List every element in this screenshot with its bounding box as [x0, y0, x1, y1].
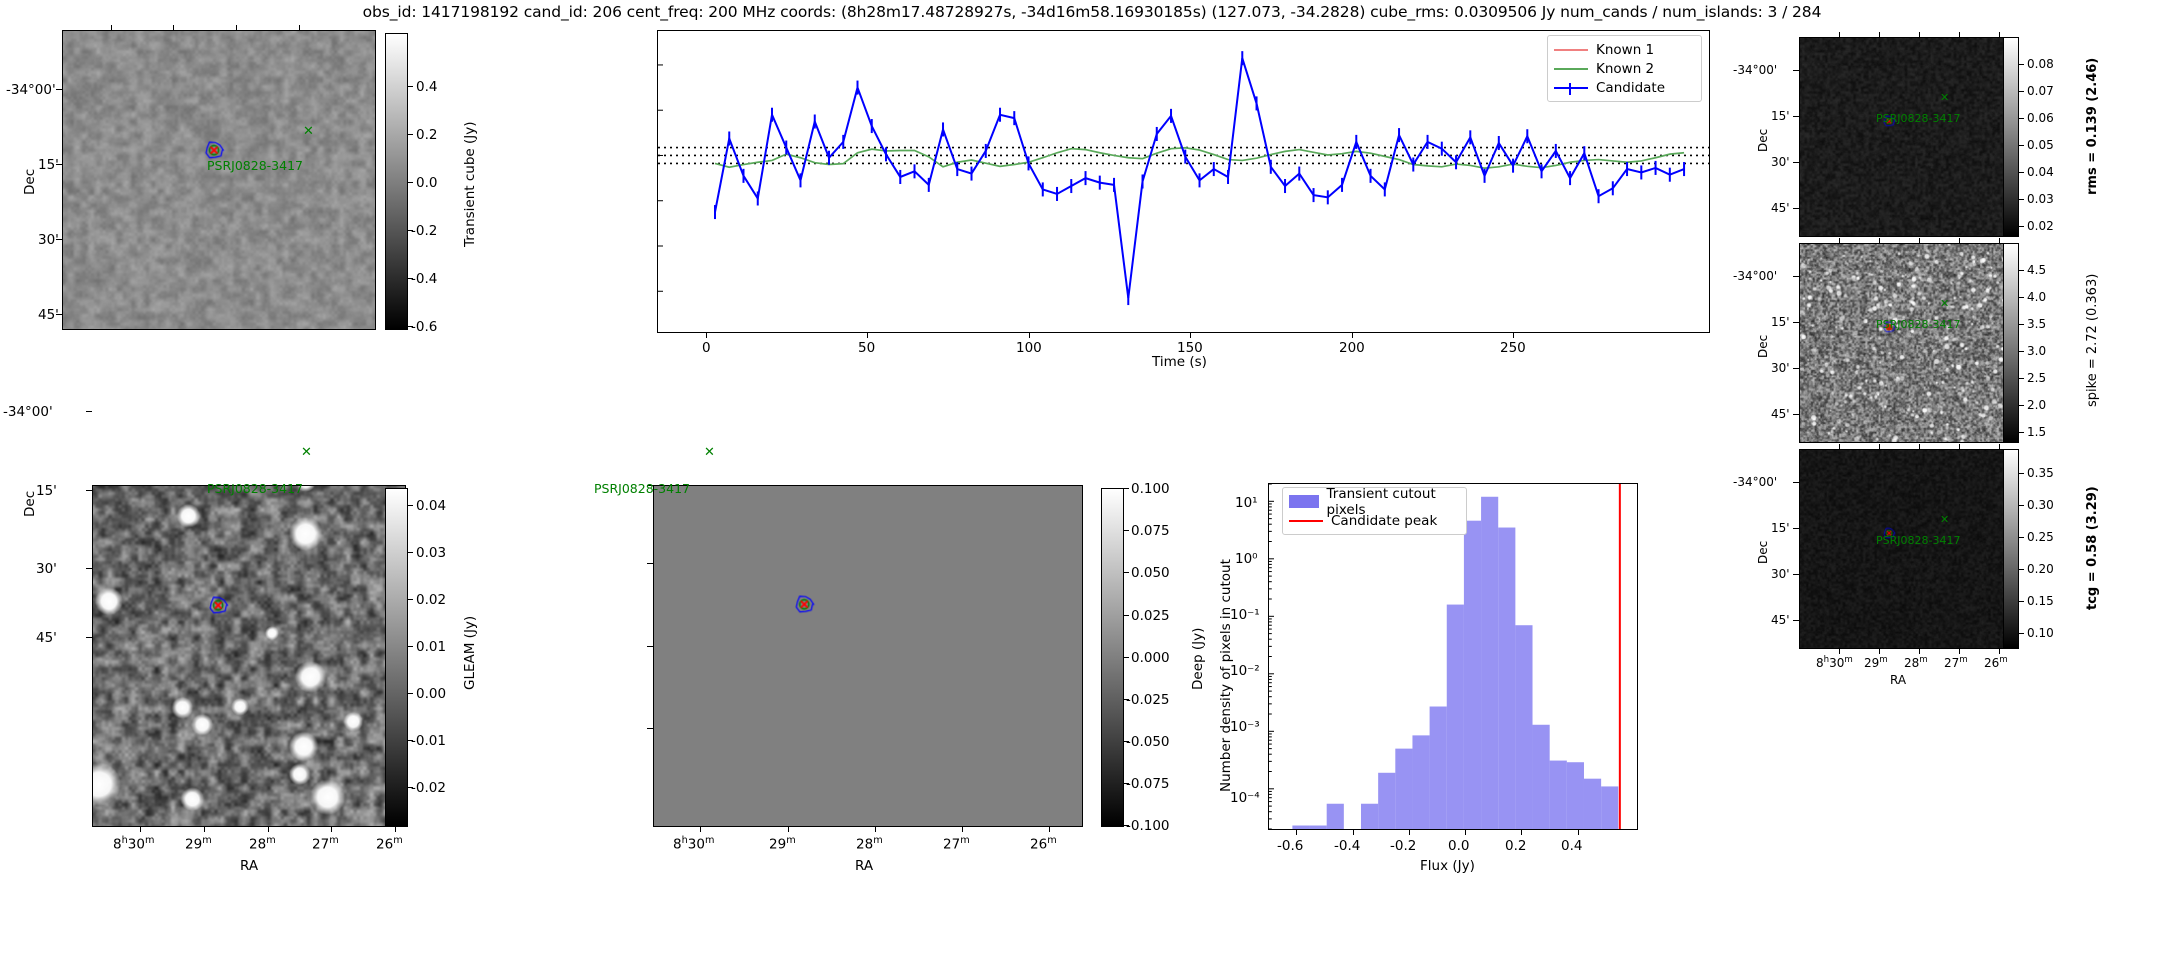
gleam-known-marker: ✕: [301, 446, 312, 459]
tcg-cbar-tick-5: 0.10: [2027, 626, 2054, 640]
legend-line-known2: [1554, 68, 1588, 70]
tcg-ytick-2: 30': [1771, 567, 1790, 581]
tcg-ytickmark-0: [1793, 482, 1799, 483]
rms-known-marker: ✕: [1940, 92, 1949, 103]
spike-source-label: PSRJ0828-3417: [1876, 318, 1960, 331]
tcg-ytick-3: 45': [1771, 613, 1790, 627]
deep-cbar-tickmark-7: [1124, 783, 1129, 784]
gleam-ytickmark-2: [86, 568, 92, 569]
gleam-colorbar-label: GLEAM (Jy): [462, 616, 478, 690]
gleam-ytick-0: -34°00': [3, 404, 53, 420]
hist-xtick-3: 0.0: [1448, 838, 1469, 854]
tcg-ytickmark-1: [1793, 528, 1799, 529]
flux-histogram-svg: [1269, 484, 1637, 829]
spike-ytick-2: 30': [1771, 361, 1790, 375]
flux-histogram-plot[interactable]: [1268, 483, 1638, 830]
legend-line-candidate: [1554, 87, 1588, 89]
deep-cbar-tickmark-2: [1124, 572, 1129, 573]
cube-cbar-tickmark-5: [408, 326, 413, 327]
cube-ytickmark-1: [56, 164, 62, 165]
spike-canvas: [1800, 244, 2005, 442]
deep-ytickmark-3: [647, 728, 653, 729]
rms-cbar-tick-6: 0.02: [2027, 219, 2054, 233]
rms-cbar-tick-3: 0.05: [2027, 138, 2054, 152]
hist-xtick-1: -0.4: [1334, 838, 1360, 854]
gleam-cbar-tick-0: 0.04: [416, 498, 446, 514]
rms-cbar-tick-2: 0.06: [2027, 111, 2054, 125]
deep-cbar-tick-7: -0.075: [1126, 776, 1170, 792]
deep-colorbar-label: Deep (Jy): [1190, 628, 1206, 690]
page-title: obs_id: 1417198192 cand_id: 206 cent_fre…: [0, 3, 2184, 21]
gleam-cbar-tickmark-3: [408, 646, 413, 647]
transient-cube-colorbar: [385, 33, 408, 330]
rms-cbar-tick-4: 0.04: [2027, 165, 2054, 179]
hist-ytick-4: 10⁻³: [1230, 719, 1260, 735]
tcg-xtick-4: 26m: [1984, 655, 2008, 670]
hist-xtick-0: -0.6: [1277, 838, 1303, 854]
gleam-cbar-tick-2: 0.02: [416, 592, 446, 608]
legend-row-candidate: Candidate: [1554, 78, 1694, 97]
spike-cbar-tickmark-3: [2019, 351, 2024, 352]
gleam-cbar-tickmark-1: [408, 552, 413, 553]
spike-xtickmark-0: [1839, 238, 1840, 243]
tcg-cbar-tick-2: 0.25: [2027, 530, 2054, 544]
rms-cbar-tickmark-2: [2019, 118, 2024, 119]
tcg-ytick-0: -34°00': [1733, 475, 1777, 489]
lc-xtickmark-2: [1029, 333, 1030, 338]
deep-xtickmark-0: [700, 827, 701, 832]
deep-xtick-1: 29m: [769, 835, 796, 853]
lightcurve-legend: Known 1 Known 2 Candidate: [1547, 35, 1702, 102]
legend-label-candidate: Candidate: [1596, 80, 1665, 96]
deep-xtickmark-4: [1049, 827, 1050, 832]
hist-xtickmark-3: [1465, 830, 1466, 835]
transient-cube-canvas: [63, 31, 375, 329]
rms-xtickmark-2: [1919, 32, 1920, 37]
legend-label-known2: Known 2: [1596, 61, 1654, 77]
rms-colorbar-label: rms = 0.139 (2.46): [2085, 58, 2100, 195]
deep-xtickmark-2: [875, 827, 876, 832]
spike-image[interactable]: [1799, 243, 2006, 443]
cube-cbar-tick-1: 0.2: [416, 127, 437, 143]
legend-swatch-cutout-pixels: [1289, 495, 1319, 508]
gleam-ytick-3: 45': [36, 630, 57, 646]
tcg-cbar-tickmark-0: [2019, 473, 2024, 474]
rms-cbar-tick-5: 0.03: [2027, 192, 2054, 206]
cube-cbar-tick-0: 0.4: [416, 79, 437, 95]
hist-xtickmark-5: [1578, 830, 1579, 835]
gleam-cbar-tickmark-0: [408, 505, 413, 506]
tcg-xtickmark-3: [1959, 444, 1960, 449]
deep-xtickmark-1: [788, 827, 789, 832]
tcg-xtickmark-b1: [1879, 649, 1880, 654]
spike-cbar-tickmark-4: [2019, 378, 2024, 379]
gleam-xtickmark-2: [268, 827, 269, 832]
cube-xtickmark-0: [111, 25, 112, 30]
deep-cbar-tick-4: 0.000: [1131, 650, 1170, 666]
tcg-canvas: [1800, 450, 2005, 648]
spike-cbar-tickmark-6: [2019, 432, 2024, 433]
spike-ytick-1: 15': [1771, 315, 1790, 329]
spike-cbar-tick-0: 4.5: [2027, 263, 2046, 277]
rms-image[interactable]: [1799, 37, 2006, 237]
tcg-cbar-tick-4: 0.15: [2027, 594, 2054, 608]
tcg-cbar-tick-0: 0.35: [2027, 466, 2054, 480]
tcg-cbar-tickmark-2: [2019, 537, 2024, 538]
hist-ytick-0: 10¹: [1235, 495, 1258, 511]
tcg-ytickmark-3: [1793, 620, 1799, 621]
rms-cbar-tickmark-1: [2019, 91, 2024, 92]
gleam-cbar-tick-1: 0.03: [416, 545, 446, 561]
flux-histogram-xlabel: Flux (Jy): [1420, 858, 1475, 874]
rms-cbar-tickmark-0: [2019, 64, 2024, 65]
gleam-colorbar: [385, 488, 408, 827]
legend-label-candidate-peak: Candidate peak: [1331, 513, 1437, 529]
gleam-cbar-tickmark-2: [408, 599, 413, 600]
deep-cbar-tickmark-1: [1124, 530, 1129, 531]
tcg-source-label: PSRJ0828-3417: [1876, 534, 1960, 547]
cube-ytick-1: 15': [38, 157, 59, 173]
lc-xtick-4: 200: [1339, 340, 1365, 356]
deep-cbar-tick-2: 0.050: [1131, 565, 1170, 581]
tcg-xtickmark-0: [1839, 444, 1840, 449]
legend-label-known1: Known 1: [1596, 42, 1654, 58]
gleam-xtickmark-0: [140, 827, 141, 832]
gleam-xtickmark-1: [204, 827, 205, 832]
tcg-xtickmark-b2: [1919, 649, 1920, 654]
gleam-ytickmark-3: [86, 637, 92, 638]
flux-histogram-legend: Transient cutout pixels Candidate peak: [1282, 487, 1467, 535]
gleam-xtickmark-4: [395, 827, 396, 832]
hist-xtickmark-1: [1353, 830, 1354, 835]
deep-cbar-tick-5: -0.025: [1126, 692, 1170, 708]
spike-xtickmark-4: [1999, 238, 2000, 243]
rms-cbar-tickmark-5: [2019, 199, 2024, 200]
cube-ytick-2: 30': [38, 232, 59, 248]
deep-cbar-tick-1: 0.075: [1131, 523, 1170, 539]
hist-xtickmark-0: [1296, 830, 1297, 835]
legend-row-cutout-pixels: Transient cutout pixels: [1289, 492, 1459, 511]
spike-cbar-tickmark-0: [2019, 270, 2024, 271]
cube-cbar-tickmark-1: [408, 134, 413, 135]
deep-cbar-tickmark-0: [1124, 488, 1129, 489]
tcg-colorbar: [2003, 449, 2019, 649]
cube-cbar-tickmark-3: [408, 230, 413, 231]
gleam-xtick-1: 29m: [185, 835, 212, 853]
legend-line-candidate-peak: [1289, 520, 1323, 522]
cube-ytickmark-2: [56, 239, 62, 240]
cube-ytick-3: 45': [38, 307, 59, 323]
lightcurve-xlabel: Time (s): [1152, 354, 1207, 370]
tcg-known-marker: ✕: [1940, 514, 1949, 525]
gleam-ytick-1: 15': [36, 483, 57, 499]
rms-ytickmark-2: [1793, 162, 1799, 163]
spike-cbar-tick-6: 1.5: [2027, 425, 2046, 439]
rms-cbar-tick-1: 0.07: [2027, 84, 2054, 98]
spike-ytick-0: -34°00': [1733, 269, 1777, 283]
deep-colorbar: [1101, 488, 1124, 827]
gleam-xtick-3: 27m: [312, 835, 339, 853]
legend-line-known1: [1554, 49, 1588, 51]
rms-colorbar: [2003, 37, 2019, 237]
rms-ytick-3: 45': [1771, 201, 1790, 215]
cube-source-label: PSRJ0828-3417: [207, 158, 303, 173]
spike-cbar-tick-1: 4.0: [2027, 290, 2046, 304]
spike-xtickmark-2: [1919, 238, 1920, 243]
cube-xtickmark-3: [299, 25, 300, 30]
rms-cbar-tickmark-6: [2019, 226, 2024, 227]
deep-ytickmark-1: [647, 563, 653, 564]
lc-xtickmark-3: [1190, 333, 1191, 338]
spike-ylabel: Dec: [1756, 335, 1770, 358]
rms-ytick-2: 30': [1771, 155, 1790, 169]
spike-ytickmark-3: [1793, 414, 1799, 415]
tcg-xtick-0: 8h30m: [1816, 655, 1853, 670]
rms-ytickmark-0: [1793, 70, 1799, 71]
deep-xtick-0: 8h30m: [673, 835, 714, 853]
lc-xtickmark-1: [867, 333, 868, 338]
cube-ylabel: Dec: [22, 169, 38, 195]
hist-ytick-2: 10⁻¹: [1230, 607, 1260, 623]
tcg-cbar-tick-1: 0.30: [2027, 498, 2054, 512]
cube-xtickmark-2: [236, 25, 237, 30]
lc-xtick-5: 250: [1500, 340, 1526, 356]
gleam-xtick-2: 28m: [249, 835, 276, 853]
spike-cbar-tick-2: 3.5: [2027, 317, 2046, 331]
hist-xtickmark-4: [1521, 830, 1522, 835]
lightcurve-series-candidate: [715, 51, 1684, 305]
tcg-ytickmark-2: [1793, 574, 1799, 575]
rms-xtickmark-4: [1999, 32, 2000, 37]
flux-histogram-bars: [1292, 497, 1618, 829]
spike-cbar-tick-3: 3.0: [2027, 344, 2046, 358]
tcg-xlabel: RA: [1890, 673, 1906, 687]
rms-ylabel: Dec: [1756, 129, 1770, 152]
tcg-xtickmark-4: [1999, 444, 2000, 449]
deep-xtick-2: 28m: [856, 835, 883, 853]
rms-cbar-tickmark-3: [2019, 145, 2024, 146]
gleam-ytickmark-1: [86, 490, 92, 491]
gleam-cbar-tickmark-4: [408, 693, 413, 694]
deep-cbar-tickmark-4: [1124, 657, 1129, 658]
deep-xtickmark-3: [962, 827, 963, 832]
rms-xtickmark-1: [1879, 32, 1880, 37]
deep-source-label: PSRJ0828-3417: [594, 481, 690, 496]
spike-cbar-tickmark-2: [2019, 324, 2024, 325]
gleam-cbar-tick-5: -0.01: [411, 733, 446, 749]
spike-ytickmark-0: [1793, 276, 1799, 277]
lc-xtickmark-0: [706, 333, 707, 338]
cube-ytickmark-0: [56, 89, 62, 90]
gleam-canvas: [93, 486, 405, 826]
gleam-cbar-tickmark-6: [408, 787, 413, 788]
lc-xtickmark-4: [1352, 333, 1353, 338]
cube-known-marker: ✕: [303, 125, 314, 138]
rms-xtickmark-3: [1959, 32, 1960, 37]
hist-ytick-5: 10⁻⁴: [1230, 790, 1260, 806]
tcg-ytick-1: 15': [1771, 521, 1790, 535]
gleam-xtick-0: 8h30m: [113, 835, 154, 853]
legend-row-known1: Known 1: [1554, 40, 1694, 59]
rms-ytick-0: -34°00': [1733, 63, 1777, 77]
deep-cbar-tickmark-6: [1124, 741, 1129, 742]
spike-cbar-tick-5: 2.0: [2027, 398, 2046, 412]
tcg-xtick-1: 29m: [1864, 655, 1888, 670]
gleam-ytick-2: 30': [36, 561, 57, 577]
gleam-cbar-tick-6: -0.02: [411, 780, 446, 796]
deep-cbar-tickmark-8: [1124, 825, 1129, 826]
tcg-cbar-tickmark-4: [2019, 601, 2024, 602]
deep-known-marker: ✕: [704, 446, 715, 459]
rms-ytickmark-3: [1793, 208, 1799, 209]
deep-xlabel: RA: [855, 858, 873, 874]
legend-row-known2: Known 2: [1554, 59, 1694, 78]
rms-ytick-1: 15': [1771, 109, 1790, 123]
deep-xtick-4: 26m: [1030, 835, 1057, 853]
deep-ytickmark-2: [647, 646, 653, 647]
rms-canvas: [1800, 38, 2005, 236]
rms-xtickmark-0: [1839, 32, 1840, 37]
gleam-xtickmark-3: [331, 827, 332, 832]
cube-ytick-0: -34°00': [6, 82, 56, 98]
deep-xtick-3: 27m: [943, 835, 970, 853]
spike-colorbar: [2003, 243, 2019, 443]
tcg-image[interactable]: [1799, 449, 2006, 649]
flux-histogram-ylabel: Number density of pixels in cutout: [1218, 559, 1234, 792]
tcg-colorbar-label: tcg = 0.58 (3.29): [2085, 486, 2100, 610]
lc-xtick-1: 50: [858, 340, 875, 356]
hist-ytick-3: 10⁻²: [1230, 663, 1260, 679]
hist-xtick-2: -0.2: [1390, 838, 1416, 854]
deep-canvas: [654, 486, 1082, 826]
gleam-source-label: PSRJ0828-3417: [207, 481, 303, 496]
deep-cbar-tickmark-5: [1124, 699, 1129, 700]
rms-cbar-tick-0: 0.08: [2027, 57, 2054, 71]
legend-row-candidate-peak: Candidate peak: [1289, 511, 1459, 530]
gleam-xlabel: RA: [240, 858, 258, 874]
cube-cbar-tick-5: -0.6: [411, 319, 437, 335]
spike-xtickmark-1: [1879, 238, 1880, 243]
tcg-xtick-2: 28m: [1904, 655, 1928, 670]
gleam-image[interactable]: [92, 485, 406, 827]
deep-cbar-tick-3: 0.025: [1131, 608, 1170, 624]
deep-cbar-tick-6: -0.050: [1126, 734, 1170, 750]
transient-cube-colorbar-label: Transient cube (Jy): [462, 121, 478, 247]
gleam-xtick-4: 26m: [376, 835, 403, 853]
tcg-xtickmark-2: [1919, 444, 1920, 449]
tcg-cbar-tickmark-3: [2019, 569, 2024, 570]
spike-xtickmark-3: [1959, 238, 1960, 243]
spike-cbar-tickmark-5: [2019, 405, 2024, 406]
gleam-ytickmark-0: [86, 411, 92, 412]
lc-xtick-0: 0: [702, 340, 711, 356]
spike-cbar-tickmark-1: [2019, 297, 2024, 298]
deep-image[interactable]: [653, 485, 1083, 827]
tcg-ylabel: Dec: [1756, 541, 1770, 564]
gleam-ylabel: Dec: [22, 491, 38, 517]
gleam-cbar-tickmark-5: [408, 740, 413, 741]
rms-source-label: PSRJ0828-3417: [1876, 112, 1960, 125]
cube-cbar-tick-4: -0.4: [411, 271, 437, 287]
spike-ytickmark-2: [1793, 368, 1799, 369]
cube-cbar-tickmark-0: [408, 86, 413, 87]
spike-ytick-3: 45': [1771, 407, 1790, 421]
tcg-xtick-3: 27m: [1944, 655, 1968, 670]
rms-ytickmark-1: [1793, 116, 1799, 117]
cube-cbar-tickmark-4: [408, 278, 413, 279]
deep-cbar-tickmark-3: [1124, 615, 1129, 616]
hist-xtick-4: 0.2: [1505, 838, 1526, 854]
gleam-cbar-tick-3: 0.01: [416, 639, 446, 655]
deep-cbar-tick-8: -0.100: [1126, 818, 1170, 834]
cube-cbar-tick-2: 0.0: [416, 175, 437, 191]
tcg-cbar-tick-3: 0.20: [2027, 562, 2054, 576]
hist-ytick-1: 10⁰: [1235, 551, 1258, 567]
deep-cbar-tick-0: 0.100: [1131, 481, 1170, 497]
cube-cbar-tick-3: -0.2: [411, 223, 437, 239]
tcg-cbar-tickmark-1: [2019, 505, 2024, 506]
hist-xtickmark-2: [1409, 830, 1410, 835]
cube-xtickmark-1: [173, 25, 174, 30]
cube-ytickmark-3: [56, 314, 62, 315]
spike-colorbar-label: spike = 2.72 (0.363): [2085, 274, 2100, 407]
hist-xtick-5: 0.4: [1561, 838, 1582, 854]
tcg-xtickmark-1: [1879, 444, 1880, 449]
tcg-xtickmark-b3: [1959, 649, 1960, 654]
spike-ytickmark-1: [1793, 322, 1799, 323]
transient-cube-image[interactable]: [62, 30, 376, 330]
spike-known-marker: ✕: [1940, 298, 1949, 309]
lc-xtickmark-5: [1513, 333, 1514, 338]
lc-xtick-2: 100: [1016, 340, 1042, 356]
cube-cbar-tickmark-2: [408, 182, 413, 183]
spike-cbar-tick-4: 2.5: [2027, 371, 2046, 385]
gleam-cbar-tick-4: 0.00: [416, 686, 446, 702]
tcg-cbar-tickmark-5: [2019, 633, 2024, 634]
tcg-xtickmark-b4: [1999, 649, 2000, 654]
rms-cbar-tickmark-4: [2019, 172, 2024, 173]
tcg-xtickmark-b0: [1839, 649, 1840, 654]
